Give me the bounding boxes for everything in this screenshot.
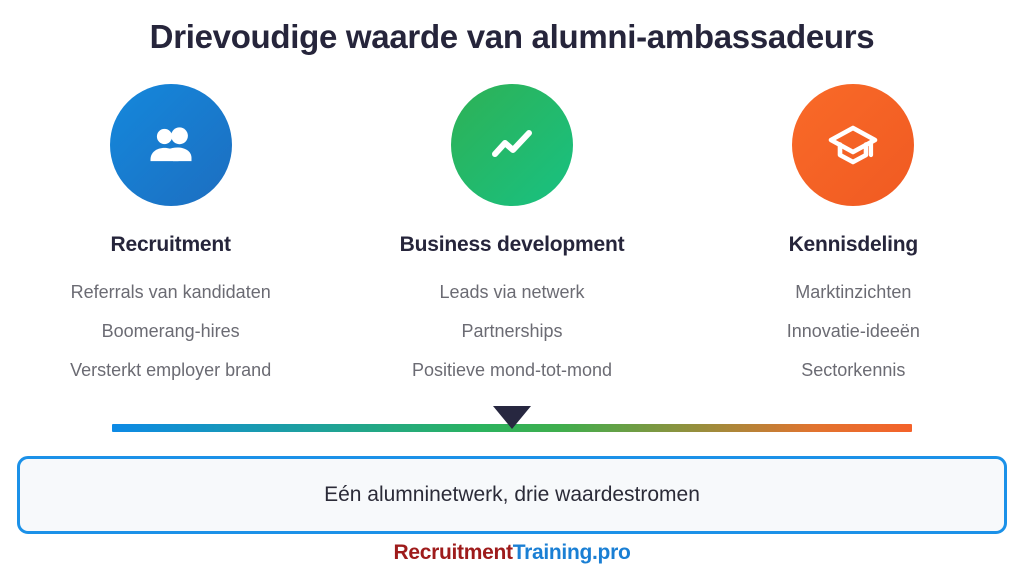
page-title: Drievoudige waarde van alumni-ambassadeu… bbox=[0, 18, 1024, 56]
trending-up-icon bbox=[484, 117, 540, 173]
column-list: Marktinzichten Innovatie-ideeën Sectorke… bbox=[787, 273, 920, 390]
infographic-page: Drievoudige waarde van alumni-ambassadeu… bbox=[0, 0, 1024, 579]
column-recruitment: Recruitment Referrals van kandidaten Boo… bbox=[0, 84, 341, 390]
icon-badge-kennisdeling bbox=[792, 84, 914, 206]
value-spectrum-bar bbox=[112, 424, 912, 432]
list-item: Marktinzichten bbox=[795, 273, 911, 312]
column-heading: Recruitment bbox=[111, 233, 231, 257]
list-item: Sectorkennis bbox=[801, 351, 905, 390]
list-item: Positieve mond-tot-mond bbox=[412, 351, 612, 390]
graduation-cap-icon bbox=[824, 116, 882, 174]
logo-text-secondary: Training.pro bbox=[513, 541, 631, 564]
column-list: Leads via netwerk Partnerships Positieve… bbox=[412, 273, 612, 390]
people-icon bbox=[143, 117, 199, 173]
list-item: Innovatie-ideeën bbox=[787, 312, 920, 351]
column-heading: Business development bbox=[400, 233, 625, 257]
column-list: Referrals van kandidaten Boomerang-hires… bbox=[70, 273, 271, 390]
column-heading: Kennisdeling bbox=[789, 233, 918, 257]
list-item: Versterkt employer brand bbox=[70, 351, 271, 390]
list-item: Referrals van kandidaten bbox=[71, 273, 271, 312]
icon-badge-recruitment bbox=[110, 84, 232, 206]
footer-logo: RecruitmentTraining.pro bbox=[0, 541, 1024, 565]
value-columns: Recruitment Referrals van kandidaten Boo… bbox=[0, 84, 1024, 390]
summary-callout: Eén alumninetwerk, drie waardestromen bbox=[17, 456, 1007, 534]
triangle-down-icon bbox=[493, 406, 531, 429]
column-kennisdeling: Kennisdeling Marktinzichten Innovatie-id… bbox=[683, 84, 1024, 390]
list-item: Boomerang-hires bbox=[102, 312, 240, 351]
column-business-development: Business development Leads via netwerk P… bbox=[341, 84, 682, 390]
icon-badge-business-development bbox=[451, 84, 573, 206]
list-item: Partnerships bbox=[461, 312, 562, 351]
list-item: Leads via netwerk bbox=[439, 273, 584, 312]
logo-text-primary: Recruitment bbox=[394, 541, 513, 564]
summary-callout-text: Eén alumninetwerk, drie waardestromen bbox=[324, 483, 700, 507]
